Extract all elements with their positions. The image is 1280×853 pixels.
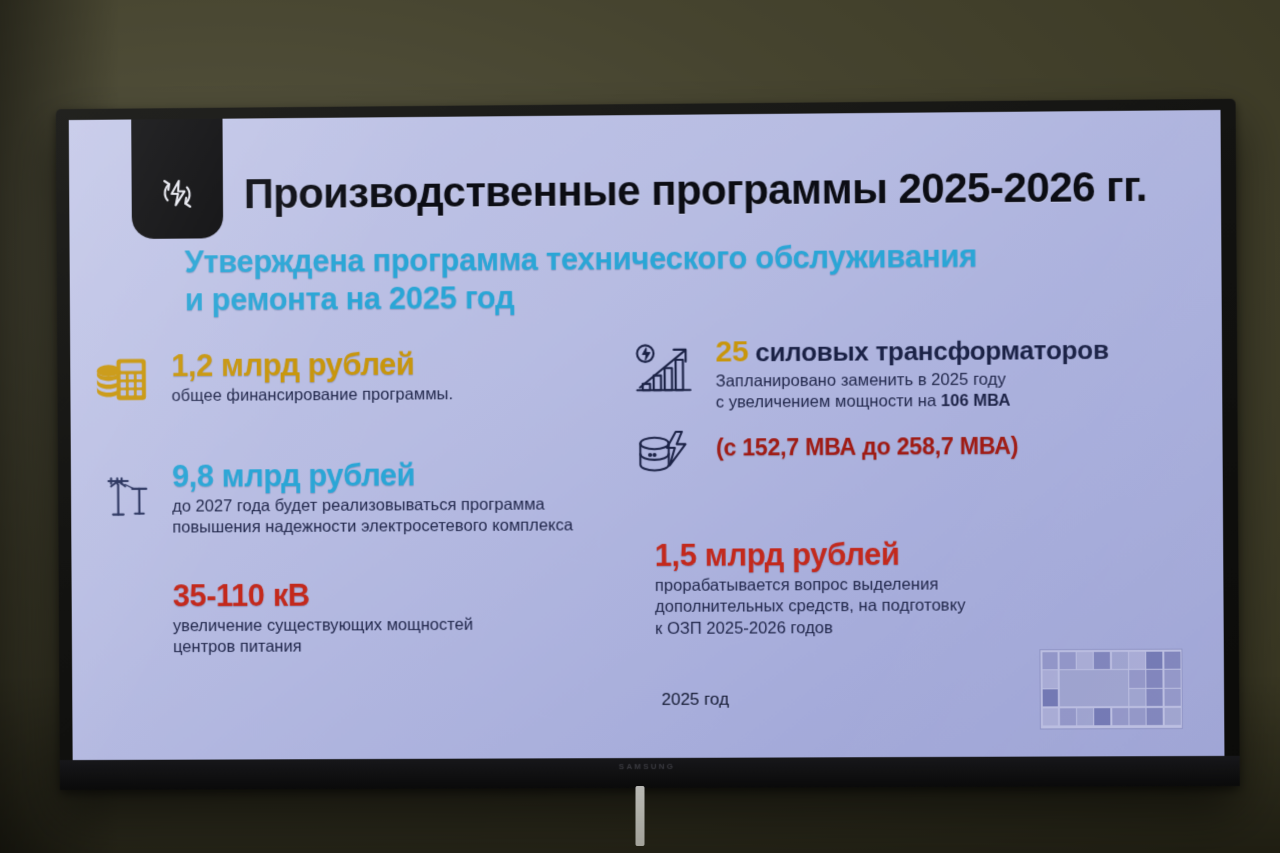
page-subtitle: Утверждена программа технического обслуж…	[185, 236, 1196, 319]
collage-tile	[1060, 708, 1076, 725]
stat-description: Запланировано заменить в 2025 году с уве…	[716, 368, 1190, 414]
photo-collage-thumbnail	[1040, 650, 1181, 729]
collage-tile-main	[1059, 670, 1127, 706]
stat-block-ozp-funding: 1,5 млрд рублей прорабатывается вопрос в…	[629, 537, 1192, 640]
stat-body: 35-110 кВ увеличение существующих мощнос…	[173, 578, 644, 658]
collage-tile	[1112, 651, 1128, 668]
desc-line-capacity: с увеличением мощности на 106 МВА	[716, 389, 1190, 414]
television: Производственные программы 2025-2026 гг.…	[56, 99, 1240, 790]
desc-line: прорабатывается вопрос выделения	[655, 573, 1191, 597]
collage-tile	[1147, 670, 1163, 687]
stat-block-transformers: 25 силовых трансформаторов Запланировано…	[627, 333, 1190, 414]
collage-tile	[1095, 708, 1111, 725]
stat-description: общее финансирование программы.	[172, 383, 642, 407]
desc-line: увеличение существующих мощностей	[173, 614, 643, 638]
stat-block-voltage: 35-110 кВ увеличение существующих мощнос…	[85, 578, 643, 659]
desc-line: к ОЗП 2025-2026 годов	[655, 616, 1191, 640]
desc-line: повышения надежности электросетевого ком…	[172, 515, 642, 539]
collage-tile	[1164, 689, 1180, 706]
collage-tile	[1129, 689, 1145, 706]
database-power-icon	[628, 424, 704, 482]
logo-badge	[131, 119, 223, 239]
stat-block-financing: 1,2 млрд рублей общее финансирование про…	[84, 347, 642, 408]
collage-tile	[1164, 651, 1180, 668]
collage-tile	[1059, 652, 1075, 669]
stat-body: 1,2 млрд рублей общее финансирование про…	[171, 347, 641, 407]
left-column: 1,2 млрд рублей общее финансирование про…	[84, 347, 643, 659]
stat-value: 9,8 млрд рублей	[172, 458, 642, 493]
stat-block-reliability: 9,8 млрд рублей до 2027 года будет реали…	[85, 458, 643, 539]
calculator-coins-icon	[84, 350, 160, 406]
transformers-headline: 25 силовых трансформаторов	[715, 333, 1189, 368]
stat-value: 1,5 млрд рублей	[655, 537, 1191, 572]
collage-tile	[1129, 670, 1145, 687]
page-title: Производственные программы 2025-2026 гг.	[244, 165, 1205, 215]
collage-tile	[1164, 670, 1180, 687]
collage-tile	[1147, 689, 1163, 706]
collage-tile	[1042, 708, 1058, 725]
tv-cable	[636, 786, 645, 846]
collage-tile	[1077, 652, 1093, 669]
collage-tile	[1147, 651, 1163, 668]
stat-description: до 2027 года будет реализовываться прогр…	[172, 494, 642, 539]
transformers-count: 25	[715, 335, 748, 368]
collage-tile	[1129, 651, 1145, 668]
desc-line: дополнительных средств, на подготовку	[655, 595, 1191, 619]
room-scene: Производственные программы 2025-2026 гг.…	[0, 0, 1280, 853]
subtitle-line-2: и ремонта на 2025 год	[185, 274, 1196, 319]
tv-brand-mark: SAMSUNG	[619, 762, 675, 771]
stat-value: 35-110 кВ	[173, 578, 643, 613]
stat-description: прорабатывается вопрос выделения дополни…	[655, 573, 1192, 640]
capacity-range-note: (с 152,7 МВА до 258,7 МВА)	[716, 433, 1190, 461]
stat-value: 1,2 млрд рублей	[171, 347, 641, 383]
collage-tile	[1129, 708, 1145, 725]
presentation-slide: Производственные программы 2025-2026 гг.…	[69, 110, 1225, 760]
stat-body: 25 силовых трансформаторов Запланировано…	[715, 333, 1190, 414]
no-icon-spacer	[85, 581, 160, 585]
stat-block-capacity-range: (с 152,7 МВА до 258,7 МВА)	[628, 421, 1191, 483]
desc-line: до 2027 года будет реализовываться прогр…	[172, 494, 642, 518]
collage-tile	[1094, 651, 1110, 668]
transformers-label: силовых трансформаторов	[755, 335, 1109, 367]
tv-bottom-bezel: SAMSUNG	[60, 756, 1240, 790]
recycling-power-icon	[151, 168, 203, 225]
right-column: 25 силовых трансформаторов Запланировано…	[627, 333, 1191, 640]
collage-tile	[1147, 708, 1163, 725]
power-line-tower-icon	[85, 461, 161, 527]
collage-tile	[1042, 652, 1058, 669]
collage-tile	[1112, 708, 1128, 725]
stat-body: (с 152,7 МВА до 258,7 МВА)	[716, 421, 1190, 461]
collage-tile	[1164, 708, 1180, 725]
stat-description: увеличение существующих мощностей центро…	[173, 614, 643, 659]
collage-tile	[1042, 689, 1058, 706]
growth-chart-power-icon	[627, 337, 703, 402]
collage-tile	[1042, 670, 1058, 687]
stat-body: 1,5 млрд рублей прорабатывается вопрос в…	[655, 537, 1192, 640]
slide-footer-year: 2025 год	[661, 690, 729, 710]
tv-screen: Производственные программы 2025-2026 гг.…	[69, 110, 1225, 760]
desc-prefix: с увеличением мощности на	[716, 392, 941, 411]
stat-body: 9,8 млрд рублей до 2027 года будет реали…	[172, 458, 643, 539]
desc-line: центров питания	[173, 635, 643, 659]
desc-line: Запланировано заменить в 2025 году	[716, 368, 1190, 393]
capacity-value: 106 МВА	[941, 392, 1011, 410]
collage-tile	[1077, 708, 1093, 725]
no-icon-spacer	[629, 540, 643, 544]
